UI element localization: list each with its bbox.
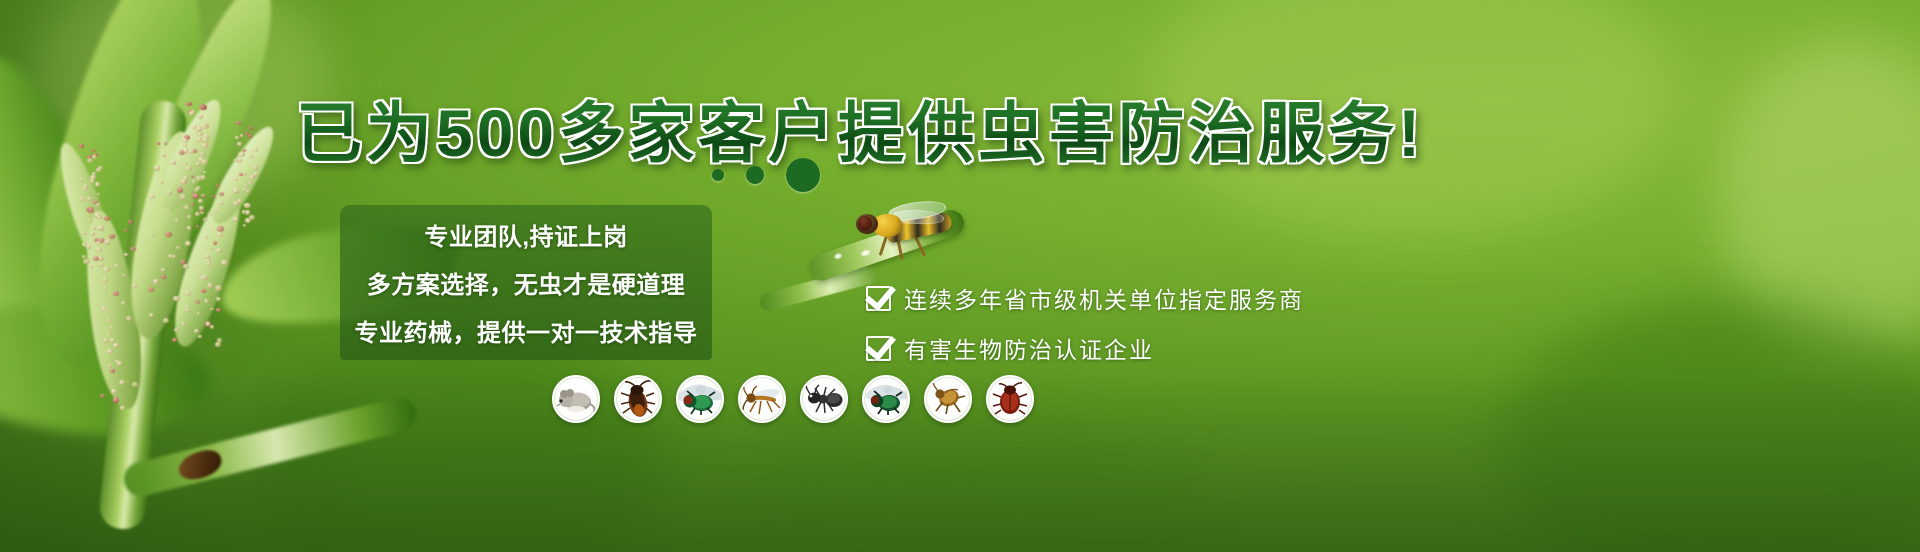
aphid (91, 149, 95, 152)
aphid (110, 369, 115, 373)
aphid (249, 154, 253, 158)
page-title: 已为500多家客户提供虫害防治服务! (296, 80, 1424, 176)
aphid (103, 338, 108, 342)
checkbox-checked-icon (866, 286, 891, 311)
aphid (201, 194, 204, 197)
flea-icon[interactable] (924, 375, 972, 423)
dot-large-icon (786, 158, 820, 192)
aphid (197, 132, 202, 137)
aphid (183, 162, 187, 165)
mosquito-icon[interactable] (738, 375, 786, 423)
aphid (217, 232, 223, 237)
aphid (213, 241, 218, 245)
aphid (180, 194, 186, 199)
aphid (111, 389, 117, 394)
aphid (104, 239, 110, 244)
hoverfly-icon (852, 200, 956, 262)
aphid (210, 325, 214, 329)
aphid (180, 179, 186, 184)
aphid (185, 308, 190, 312)
aphid (237, 142, 242, 146)
aphid (79, 144, 84, 148)
aphid (82, 231, 86, 235)
aphid (233, 201, 239, 206)
aphid (124, 253, 128, 256)
aphid (110, 326, 113, 329)
pest-icon-row (552, 375, 1034, 423)
mouse-icon[interactable] (552, 375, 600, 423)
aphid (205, 254, 210, 258)
aphid (240, 134, 244, 137)
dot-medium-icon (746, 166, 764, 184)
aphid (249, 126, 253, 129)
aphid (198, 335, 202, 338)
aphid (253, 148, 258, 152)
aphid (245, 218, 252, 224)
checkbox-checked-icon (866, 336, 891, 361)
aphid (102, 278, 108, 283)
housefly-icon[interactable] (862, 375, 910, 423)
aphid (82, 187, 87, 191)
aphid (86, 244, 91, 248)
aphid (165, 232, 171, 237)
dot-small-icon (712, 169, 724, 181)
aphid (221, 260, 228, 266)
aphid (216, 297, 221, 301)
aphid (204, 123, 207, 126)
aphid (83, 259, 90, 265)
aphid (201, 159, 208, 165)
aphid (215, 285, 221, 291)
aphid (249, 175, 254, 180)
aphid (181, 322, 186, 326)
aphid (161, 268, 165, 272)
feature-line-3: 专业药械，提供一对一技术指导 (355, 313, 698, 348)
aphid (132, 283, 137, 288)
aphid (187, 226, 191, 229)
aphid (162, 153, 166, 157)
aphid (198, 114, 203, 118)
aphid (235, 136, 239, 140)
certification-text: 连续多年省市级机关单位指定服务商 (904, 281, 1304, 315)
pest-control-hero-banner: 已为500多家客户提供虫害防治服务! 专业团队,持证上岗 多方案选择，无虫才是硬… (0, 0, 1920, 552)
aphid (195, 300, 200, 305)
aphid (202, 137, 208, 142)
aphid (215, 209, 218, 212)
feature-panel: 专业团队,持证上岗 多方案选择，无虫才是硬道理 专业药械，提供一对一技术指导 (340, 205, 712, 360)
aphid (212, 195, 216, 198)
aphid (192, 193, 198, 199)
aphid (202, 143, 208, 148)
aphid (185, 166, 191, 172)
insect-eye (858, 216, 872, 231)
aphid (191, 203, 195, 206)
aphid (164, 142, 168, 145)
dew-drop (834, 253, 842, 260)
aphid (215, 342, 221, 347)
aphid (161, 275, 166, 279)
aphid (233, 188, 239, 193)
aphid (103, 267, 109, 272)
aphid (121, 301, 126, 305)
bedbug-icon[interactable] (986, 375, 1034, 423)
aphid (95, 182, 100, 187)
aphid (107, 319, 111, 322)
aphid (107, 349, 113, 354)
aphid (149, 194, 155, 199)
aphid (216, 308, 221, 312)
aphid (119, 380, 125, 385)
aphid (174, 328, 179, 332)
aphid (192, 180, 196, 183)
aphid (107, 333, 110, 336)
feature-line-1: 专业团队,持证上岗 (424, 217, 627, 252)
aphid (238, 152, 244, 157)
aphid (233, 217, 238, 222)
aphid (243, 224, 247, 227)
aphid (110, 338, 115, 343)
aphid (88, 219, 92, 222)
aphid (113, 343, 119, 348)
list-item: 连续多年省市级机关单位指定服务商 (866, 274, 1304, 322)
aphid (196, 225, 200, 228)
aphid (186, 102, 191, 107)
aphid (184, 205, 190, 210)
aphid (199, 206, 203, 210)
aphid (159, 181, 163, 184)
aphid (163, 318, 169, 323)
certification-text: 有害生物防治认证企业 (904, 331, 1154, 365)
blowfly-icon[interactable] (676, 375, 724, 423)
aphid (187, 215, 191, 219)
aphid (177, 187, 183, 192)
aphid (154, 165, 160, 171)
aphid (90, 232, 95, 236)
aphid (172, 338, 178, 343)
aphid (96, 168, 100, 172)
aphid (99, 263, 103, 267)
aphid (185, 241, 191, 246)
aphid (210, 308, 213, 311)
insect-head (856, 214, 878, 234)
aphid (183, 143, 188, 147)
aphid (252, 165, 258, 170)
aphid (98, 225, 104, 231)
feature-line-2: 多方案选择，无虫才是硬道理 (367, 265, 686, 300)
aphid (233, 177, 238, 181)
aphid (173, 296, 179, 301)
aphid (175, 219, 179, 223)
decorative-dots (712, 158, 820, 192)
aphid (200, 276, 205, 280)
aphid (194, 329, 199, 333)
list-item: 有害生物防治认证企业 (866, 324, 1304, 372)
aphid (242, 210, 246, 214)
aphid (199, 104, 206, 110)
cockroach-icon[interactable] (614, 375, 662, 423)
aphid (216, 248, 222, 253)
ant-icon[interactable] (800, 375, 848, 423)
aphid (200, 152, 205, 156)
aphid (96, 241, 101, 245)
aphid (219, 201, 223, 205)
certification-list: 连续多年省市级机关单位指定服务商 有害生物防治认证企业 (866, 274, 1304, 372)
aphid (207, 283, 213, 288)
aphid (157, 142, 161, 145)
aphid (183, 264, 188, 269)
aphid (92, 155, 97, 159)
aphid (204, 299, 209, 303)
